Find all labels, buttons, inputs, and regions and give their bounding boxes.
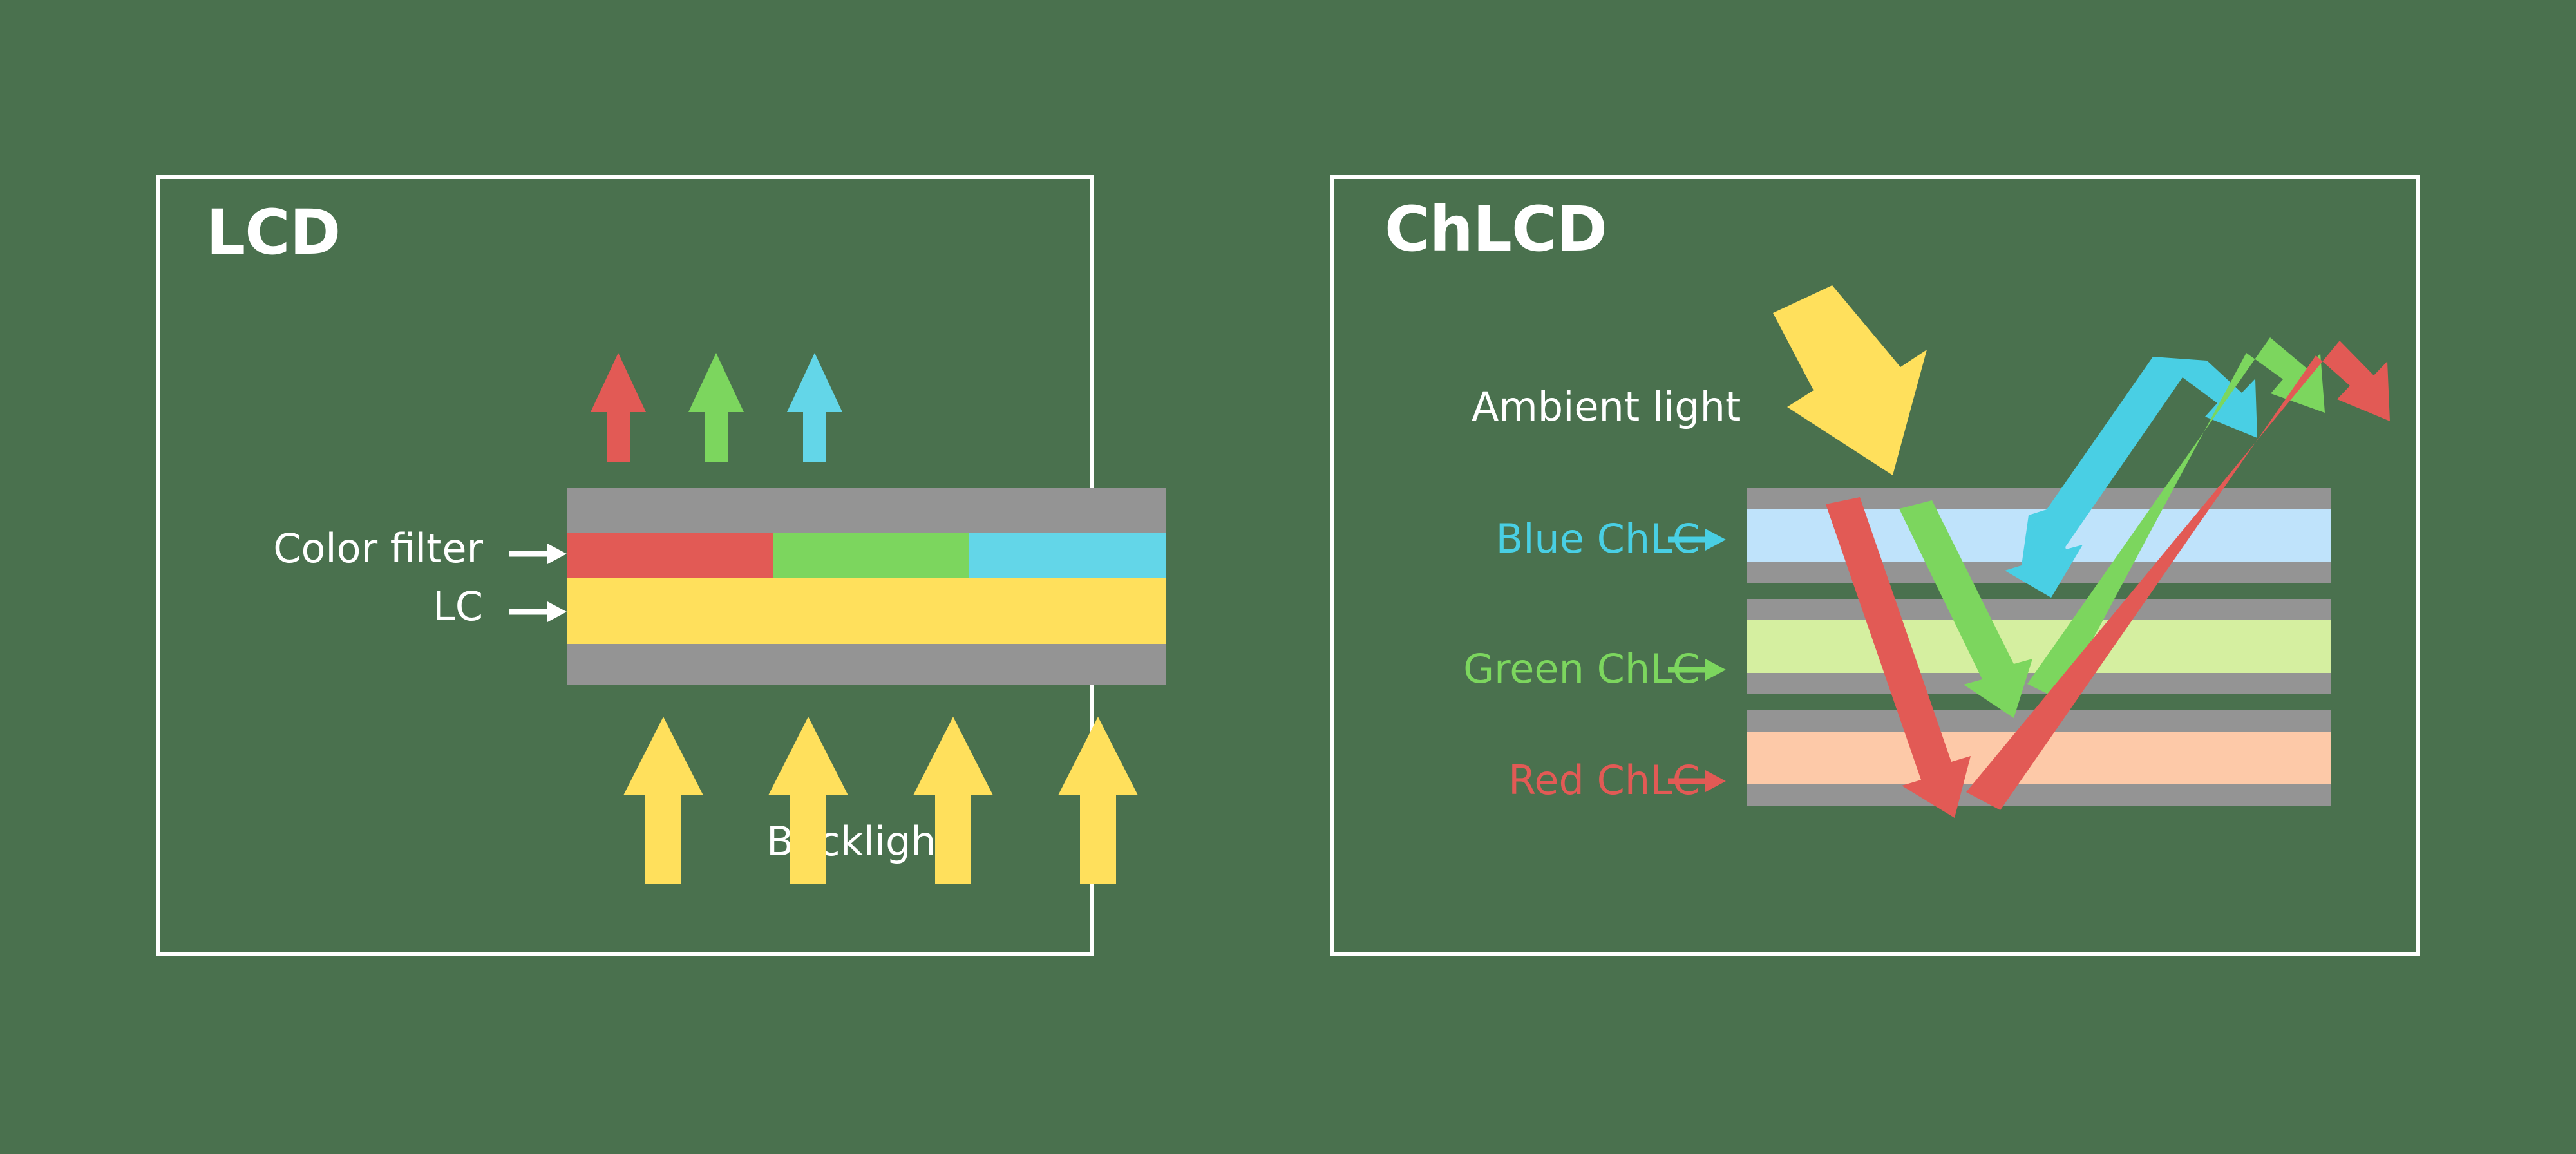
backlight-arrow-2 bbox=[768, 717, 848, 884]
lcd-emitted-blue-arrow bbox=[787, 353, 842, 462]
lcd-emitted-red-arrow bbox=[591, 353, 646, 462]
arrow-layer bbox=[0, 0, 2576, 1154]
green-chlc-leader-arrow bbox=[1668, 659, 1726, 681]
red-chlc-leader-arrow bbox=[1668, 770, 1726, 792]
backlight-arrow-3 bbox=[913, 717, 993, 884]
backlight-arrow-1 bbox=[623, 717, 703, 884]
color-filter-leader-arrow bbox=[509, 544, 567, 564]
lcd-emitted-green-arrow bbox=[688, 353, 744, 462]
diagram-canvas: LCD Color filter LC Backlight ChLCD Ambi… bbox=[0, 0, 2576, 1154]
backlight-arrow-4 bbox=[1058, 717, 1138, 884]
blue-chlc-leader-arrow bbox=[1668, 529, 1726, 551]
ambient-light-arrow bbox=[1773, 285, 1927, 475]
lc-leader-arrow bbox=[509, 601, 567, 622]
